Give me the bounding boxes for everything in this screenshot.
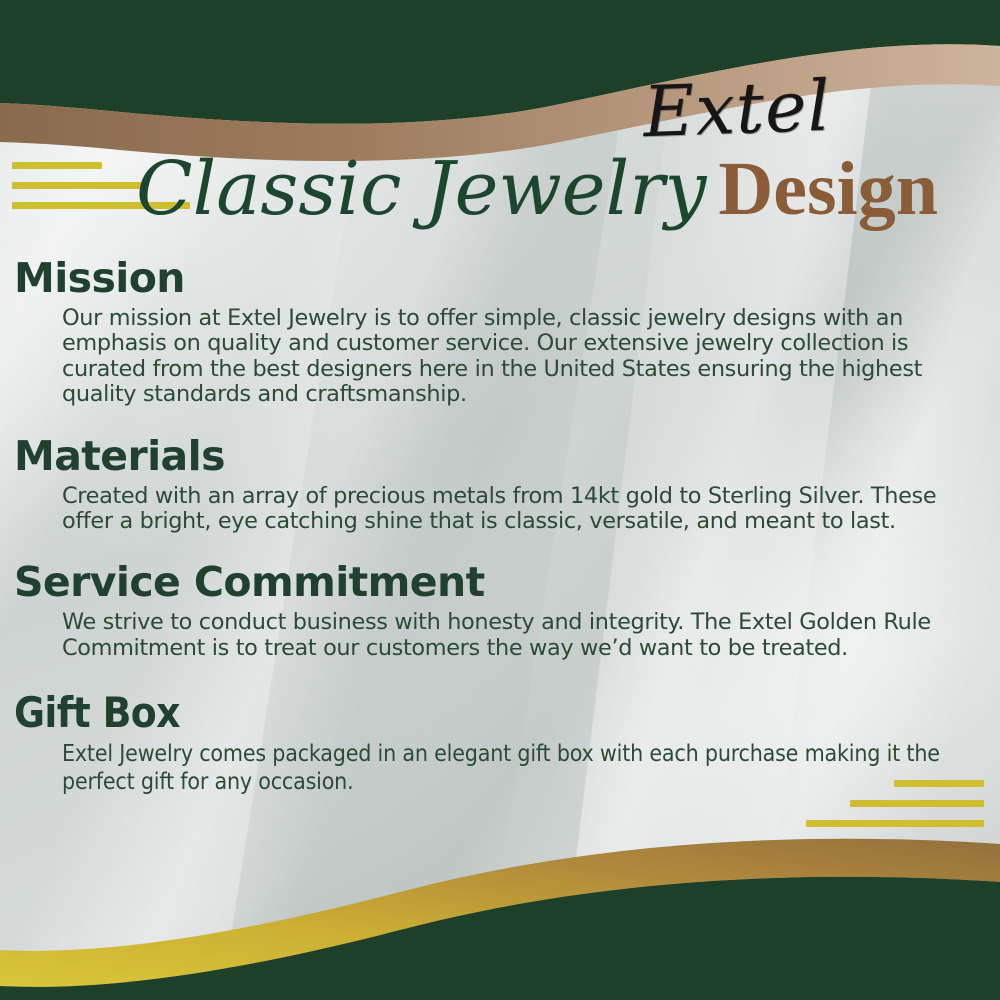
- section-body-service-commitment: We strive to conduct business with hones…: [62, 610, 970, 661]
- section-heading-materials: Materials: [14, 434, 1000, 480]
- section-body-mission: Our mission at Extel Jewelry is to offer…: [62, 306, 970, 408]
- decorative-line: [12, 182, 145, 189]
- title-serif-part: Design: [718, 147, 938, 231]
- section-service-commitment: Service Commitment We strive to conduct …: [0, 560, 1000, 661]
- poster-canvas: Extel Classic JewelryDesign Mission Our …: [0, 0, 1000, 1000]
- section-body-materials: Created with an array of precious metals…: [62, 484, 970, 535]
- content-sections: Mission Our mission at Extel Jewelry is …: [0, 256, 1000, 818]
- decorative-line: [12, 162, 102, 169]
- page-title: Classic JewelryDesign: [136, 146, 938, 233]
- section-mission: Mission Our mission at Extel Jewelry is …: [0, 256, 1000, 408]
- section-heading-service-commitment: Service Commitment: [14, 560, 1000, 606]
- decorative-line: [850, 800, 984, 807]
- section-heading-mission: Mission: [14, 256, 1000, 302]
- brand-wordmark: Extel: [611, 70, 863, 149]
- decorative-lines-bottom-right: [784, 780, 984, 840]
- decorative-line: [806, 820, 984, 827]
- title-script-part: Classic Jewelry: [136, 146, 706, 232]
- section-heading-gift-box: Gift Box: [14, 689, 1000, 736]
- decorative-line: [894, 780, 984, 787]
- title-row: Classic JewelryDesign: [0, 152, 1000, 252]
- section-materials: Materials Created with an array of preci…: [0, 434, 1000, 535]
